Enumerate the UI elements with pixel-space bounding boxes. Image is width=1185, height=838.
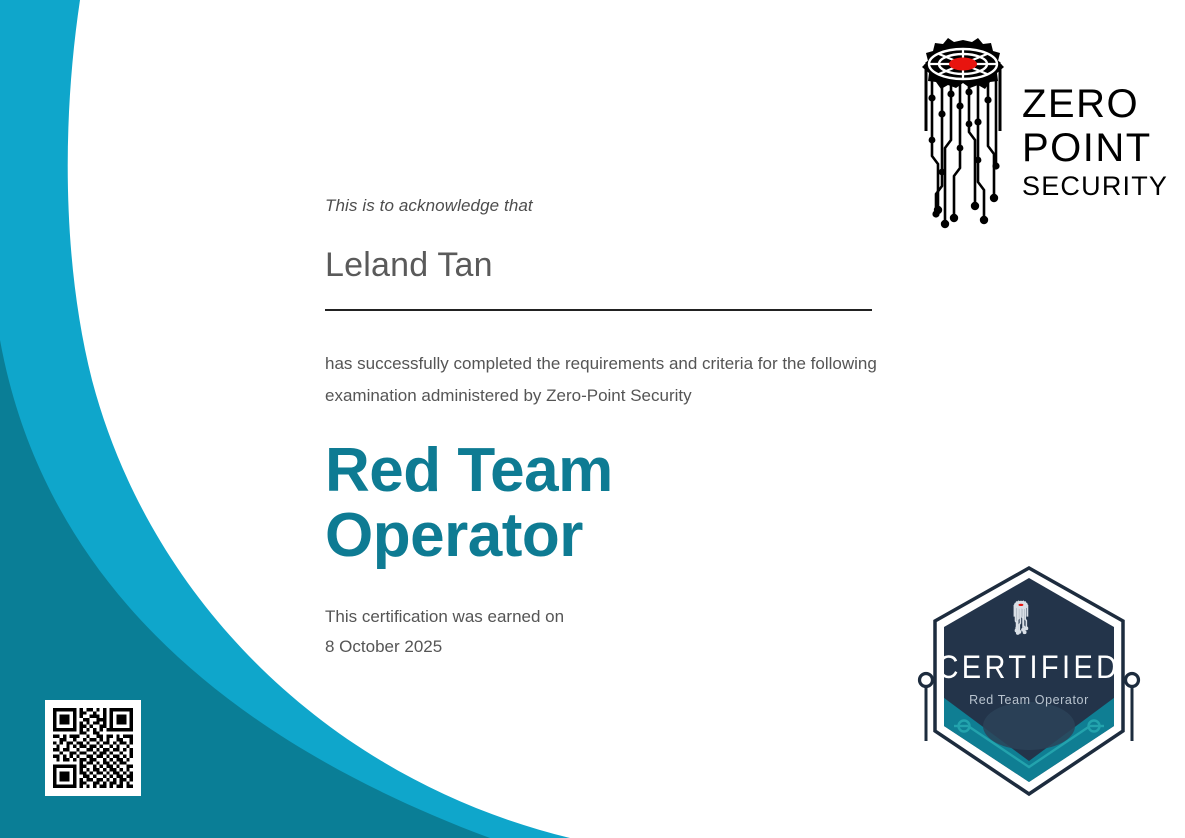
certification-badge: CERTIFIED Red Team Operator: [906, 556, 1151, 806]
verification-qr-code[interactable]: [45, 700, 141, 796]
certificate-body: This is to acknowledge that Leland Tan h…: [325, 196, 885, 662]
acknowledgement-line: This is to acknowledge that: [325, 196, 885, 216]
brand-line-point: POINT: [1022, 128, 1152, 168]
brand-line-zero: ZERO: [1022, 84, 1139, 124]
brand-logo: ZERO POINT SECURITY: [912, 36, 1140, 236]
qr-code-matrix: [53, 708, 133, 788]
earned-on-date: 8 October 2025: [325, 632, 885, 662]
earned-on-label: This certification was earned on: [325, 602, 885, 632]
certificate-page: ZERO POINT SECURITY This is to acknowled…: [0, 0, 1185, 838]
badge-subheading: Red Team Operator: [969, 693, 1089, 707]
criteria-text: has successfully completed the requireme…: [325, 348, 885, 412]
badge-heading: CERTIFIED: [937, 649, 1120, 686]
brand-wordmark: ZERO POINT SECURITY: [1022, 84, 1168, 200]
name-underline-rule: [325, 309, 872, 311]
recipient-name: Leland Tan: [325, 246, 885, 285]
badge-graphic: CERTIFIED Red Team Operator: [906, 556, 1151, 806]
zero-point-circuit-tower-icon: [912, 36, 1014, 231]
certification-title: Red Team Operator: [325, 438, 885, 568]
brand-line-security: SECURITY: [1022, 173, 1168, 200]
